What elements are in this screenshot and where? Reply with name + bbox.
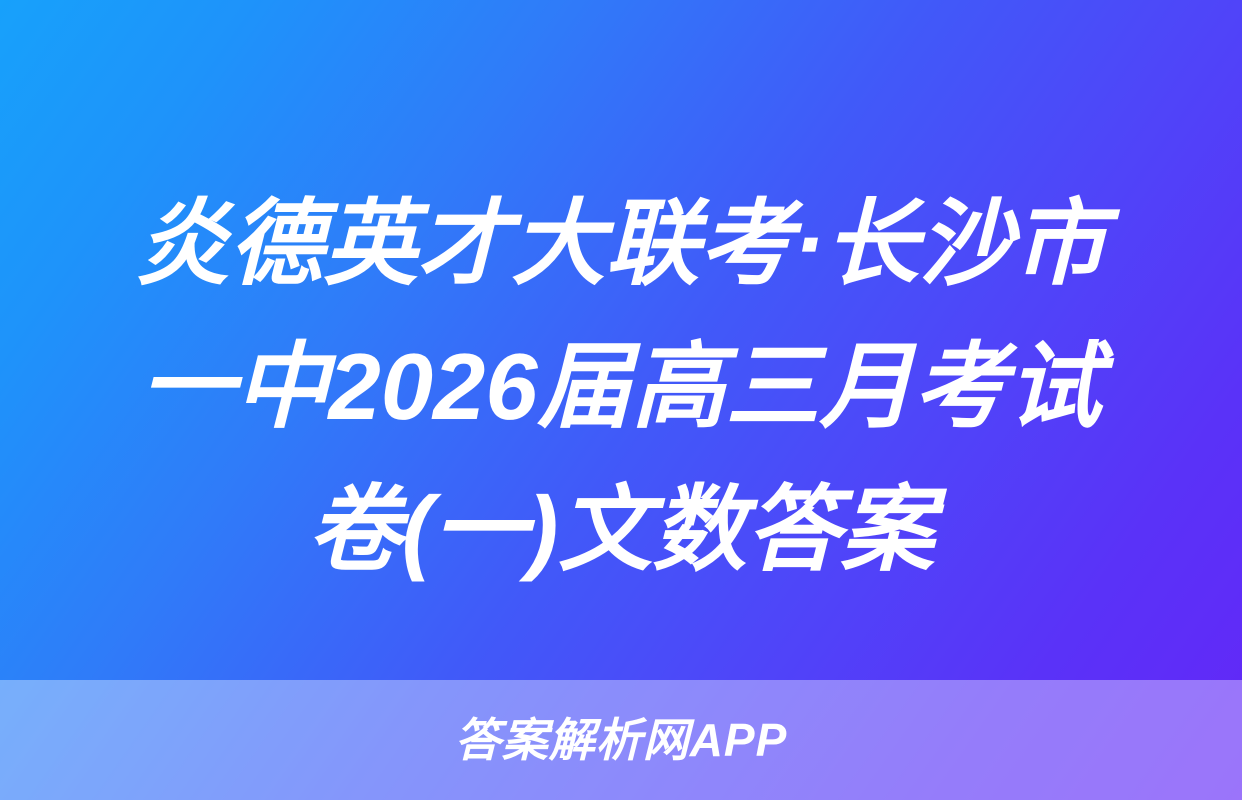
title-line-1: 炎德英才大联考·长沙市: [60, 172, 1182, 315]
poster-title-block: 炎德英才大联考·长沙市 一中2026届高三月考试 卷(一)文数答案: [0, 172, 1242, 601]
footer-brand-band: 答案解析网APP: [0, 680, 1242, 800]
title-line-2: 一中2026届高三月考试: [60, 315, 1182, 458]
brand-watermark-label: 答案解析网APP: [455, 717, 788, 763]
title-line-3: 卷(一)文数答案: [60, 458, 1182, 601]
poster-canvas: 炎德英才大联考·长沙市 一中2026届高三月考试 卷(一)文数答案 答案解析网A…: [0, 0, 1242, 800]
